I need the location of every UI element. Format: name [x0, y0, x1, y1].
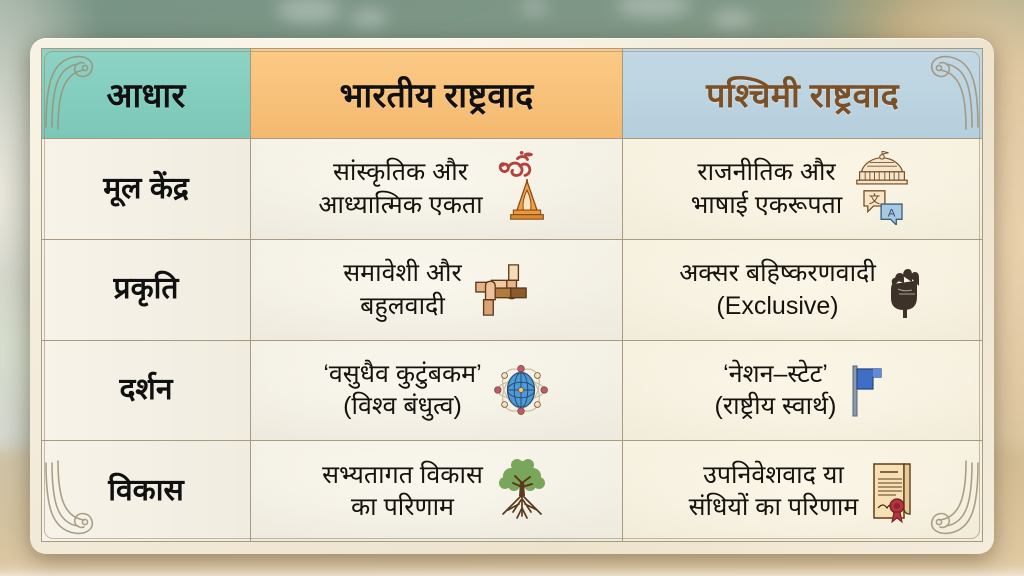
- row-basis-label: दर्शन: [120, 371, 173, 409]
- row-indian-icons: [472, 261, 530, 319]
- row-western-text: उपनिवेशवाद या संधियों का परिणाम: [689, 459, 859, 524]
- blue-flag-icon: [846, 362, 890, 418]
- header-label-basis: आधार: [107, 71, 186, 117]
- row-indian-cell: सभ्यतागत विकास का परिणाम: [251, 441, 623, 541]
- row-western-icons: 文 A: [852, 149, 914, 229]
- treaty-scroll-icon: [868, 458, 916, 524]
- comparison-card: आधार भारतीय राष्ट्रवाद पश्चिमी राष्ट्रवा…: [30, 38, 994, 554]
- row-basis-cell: प्रकृति: [42, 240, 251, 340]
- row-indian-text: समावेशी और बहुलवादी: [343, 257, 461, 322]
- row-indian-text: सभ्यतागत विकास का परिणाम: [322, 459, 483, 524]
- row-western-cell: राजनीतिक और भाषाई एकरूपता: [623, 139, 982, 239]
- row-basis-cell: दर्शन: [42, 341, 251, 441]
- row-western-cell: ‘नेशन–स्टेट’ (राष्ट्रीय स्वार्थ): [623, 341, 982, 441]
- svg-text:A: A: [888, 207, 896, 219]
- header-cell-basis: आधार: [42, 49, 251, 138]
- table-row: प्रकृति समावेशी और बहुलवादी: [42, 240, 982, 341]
- rooted-tree-icon: [493, 456, 551, 526]
- row-basis-label: मूल केंद्र: [103, 170, 189, 208]
- row-indian-text: सांस्कृतिक और आध्यात्मिक एकता: [318, 156, 482, 221]
- row-indian-icons: [492, 361, 550, 419]
- row-western-cell: उपनिवेशवाद या संधियों का परिणाम: [623, 441, 982, 541]
- comparison-table: आधार भारतीय राष्ट्रवाद पश्चिमी राष्ट्रवा…: [41, 48, 983, 542]
- hindu-temple-icon: [507, 179, 547, 223]
- row-western-icons: [846, 362, 890, 418]
- header-cell-indian-nationalism: भारतीय राष्ट्रवाद: [251, 49, 623, 138]
- row-indian-icons: [493, 149, 555, 229]
- table-row: मूल केंद्र सांस्कृतिक और आध्यात्मिक एकता: [42, 139, 982, 240]
- row-western-text: राजनीतिक और भाषाई एकरूपता: [691, 156, 843, 221]
- row-basis-label: विकास: [108, 472, 184, 510]
- row-western-cell: अक्सर बहिष्करणवादी (Exclusive): [623, 240, 982, 340]
- svg-text:文: 文: [869, 192, 881, 206]
- row-basis-cell: मूल केंद्र: [42, 139, 251, 239]
- row-indian-cell: समावेशी और बहुलवादी: [251, 240, 623, 340]
- row-indian-cell: ‘वसुधैव कुटुंबकम’ (विश्व बंधुत्व): [251, 341, 623, 441]
- globe-network-icon: [492, 361, 550, 419]
- row-indian-text: ‘वसुधैव कुटुंबकम’ (विश्व बंधुत्व): [323, 358, 481, 423]
- table-header-row: आधार भारतीय राष्ट्रवाद पश्चिमी राष्ट्रवा…: [42, 49, 982, 139]
- row-western-icons: [886, 262, 926, 318]
- header-cell-western-nationalism: पश्चिमी राष्ट्रवाद: [623, 49, 982, 138]
- raised-fist-icon: [886, 262, 926, 318]
- row-indian-cell: सांस्कृतिक और आध्यात्मिक एकता: [251, 139, 623, 239]
- parliament-building-icon: [854, 151, 910, 187]
- row-western-text: अक्सर बहिष्करणवादी (Exclusive): [679, 257, 876, 322]
- table-row: विकास सभ्यतागत विकास का परिणाम: [42, 441, 982, 541]
- row-basis-cell: विकास: [42, 441, 251, 541]
- header-label-indian-nationalism: भारतीय राष्ट्रवाद: [339, 71, 533, 117]
- row-basis-label: प्रकृति: [114, 270, 179, 308]
- row-western-icons: [868, 458, 916, 524]
- table-row: दर्शन ‘वसुधैव कुटुंबकम’ (विश्व बंधुत्व): [42, 341, 982, 442]
- interlocking-hands-icon: [472, 261, 530, 319]
- row-indian-icons: [493, 456, 551, 526]
- row-western-text: ‘नेशन–स्टेट’ (राष्ट्रीय स्वार्थ): [715, 358, 837, 423]
- header-label-western-nationalism: पश्चिमी राष्ट्रवाद: [706, 71, 899, 117]
- translate-icon: 文 A: [862, 187, 904, 225]
